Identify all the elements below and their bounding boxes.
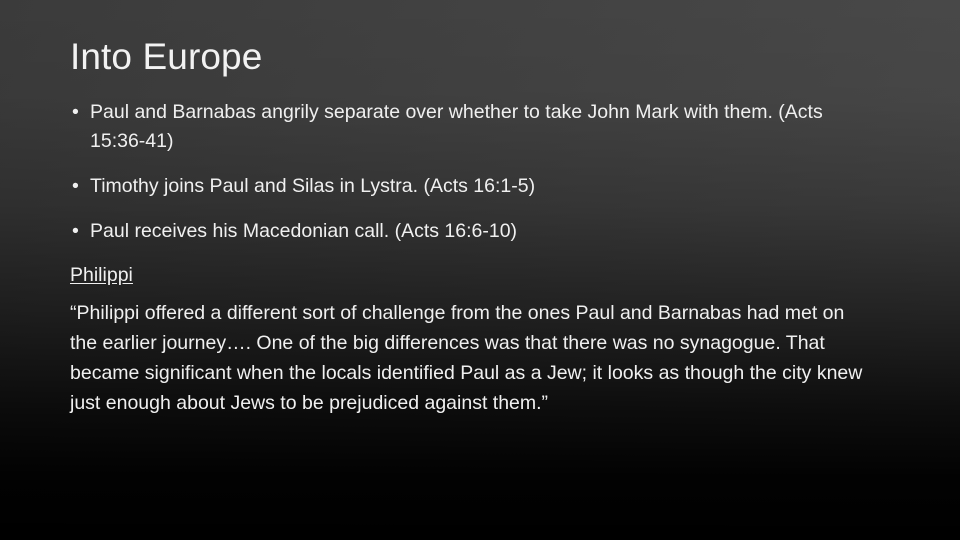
page-title: Into Europe	[70, 36, 900, 79]
presentation-slide: Into Europe • Paul and Barnabas angrily …	[0, 0, 960, 540]
block-quote: “Philippi offered a different sort of ch…	[70, 299, 870, 418]
list-item: • Paul receives his Macedonian call. (Ac…	[70, 217, 878, 246]
list-item: • Paul and Barnabas angrily separate ove…	[70, 98, 878, 156]
slide-body: • Paul and Barnabas angrily separate ove…	[70, 98, 878, 419]
section-subheading-text: Philippi	[70, 264, 133, 286]
list-item-text: Timothy joins Paul and Silas in Lystra. …	[90, 175, 535, 197]
bullet-dot-icon: •	[72, 98, 79, 127]
list-item-text: Paul receives his Macedonian call. (Acts…	[90, 220, 517, 242]
list-item-text: Paul and Barnabas angrily separate over …	[90, 101, 823, 152]
section-subheading: Philippi	[70, 261, 878, 290]
bullet-dot-icon: •	[72, 217, 79, 246]
list-item: • Timothy joins Paul and Silas in Lystra…	[70, 172, 878, 201]
bullet-dot-icon: •	[72, 172, 79, 201]
